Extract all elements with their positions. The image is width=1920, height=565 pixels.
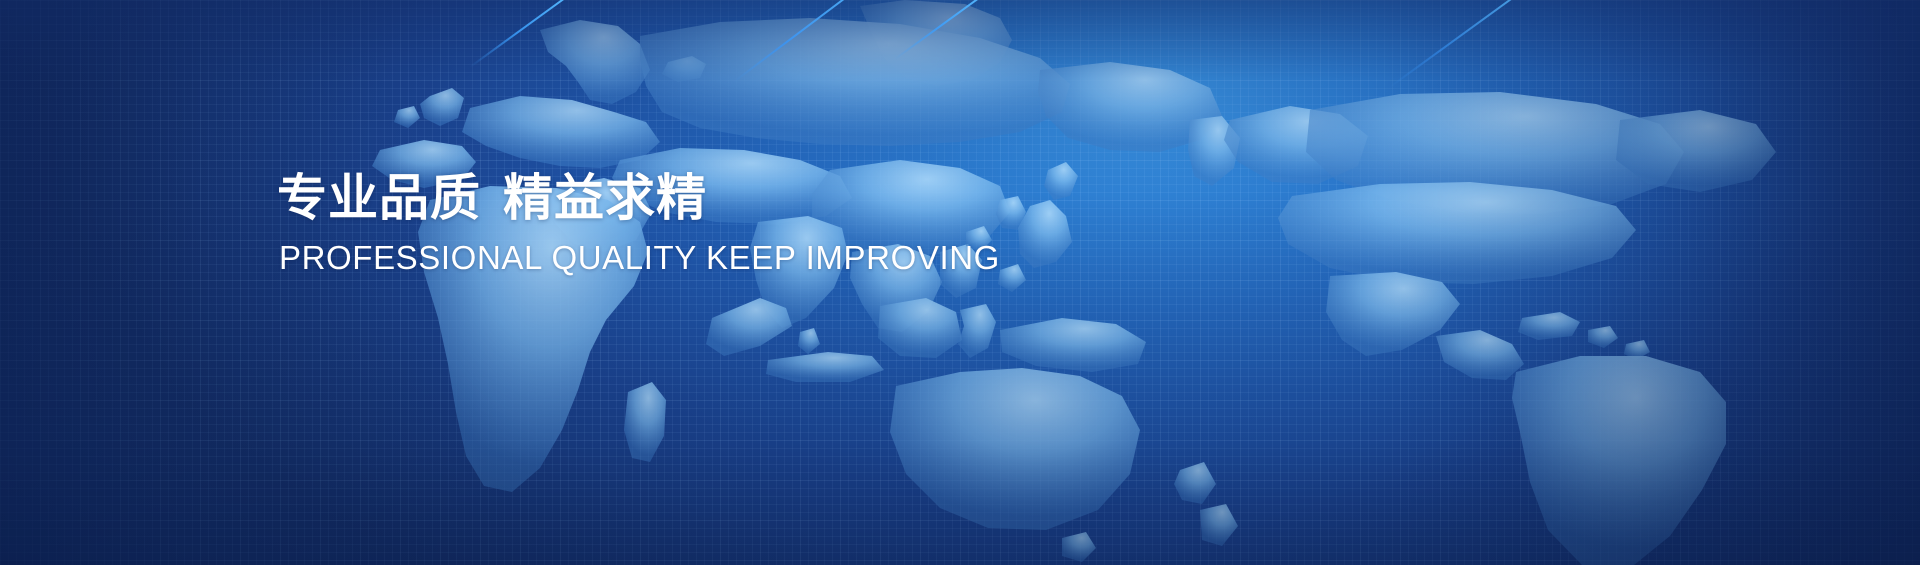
slogan-chinese: 专业品质精益求精 bbox=[277, 168, 1000, 229]
hero-banner: 专业品质精益求精 PROFESSIONAL QUALITY KEEP IMPRO… bbox=[0, 0, 1920, 565]
background-top-shading bbox=[0, 0, 1920, 565]
slogan-english: PROFESSIONAL QUALITY KEEP IMPROVING bbox=[279, 238, 1000, 278]
slogan-chinese-part1: 专业品质 bbox=[277, 170, 481, 226]
slogan-block: 专业品质精益求精 PROFESSIONAL QUALITY KEEP IMPRO… bbox=[277, 168, 1000, 278]
slogan-chinese-part2: 精益求精 bbox=[503, 170, 707, 226]
